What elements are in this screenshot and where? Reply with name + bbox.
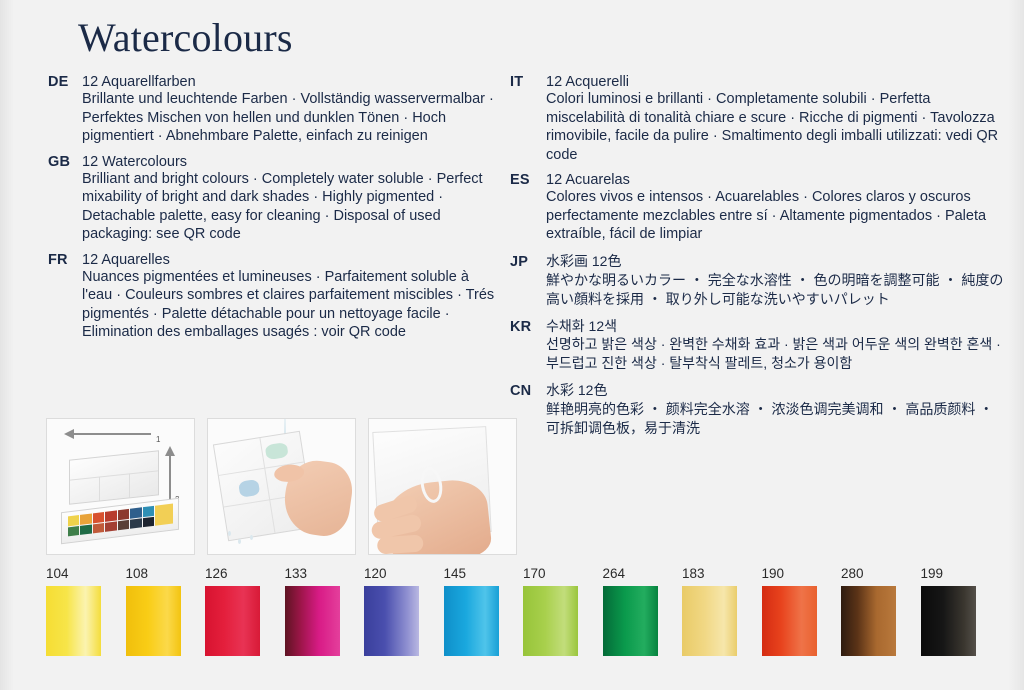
paint-pan	[68, 525, 79, 536]
swatch-cell: 183	[682, 566, 762, 656]
language-heading-gb: 12 Watercolours	[82, 154, 187, 170]
swatch-colour-chip	[444, 586, 499, 656]
paint-residue-green	[265, 442, 289, 460]
paint-pan	[80, 513, 91, 524]
language-body-it: Colori luminosi e brillanti · Completame…	[546, 90, 1010, 164]
paint-pan	[68, 515, 79, 526]
paint-pan	[118, 519, 129, 530]
swatch-number: 170	[523, 566, 603, 581]
language-heading-de: 12 Aquarellfarben	[82, 74, 196, 90]
arrow-step-1-icon	[73, 433, 151, 435]
language-block-de: DE 12 Aquarellfarben Brillante und leuch…	[48, 74, 500, 146]
language-heading-kr: 수채화 12색	[546, 317, 617, 336]
language-heading-it: 12 Acquerelli	[546, 74, 629, 90]
swatch-colour-chip	[762, 586, 817, 656]
swatch-number: 120	[364, 566, 444, 581]
paint-pan	[80, 524, 91, 535]
swatch-number: 190	[762, 566, 842, 581]
language-block-es: ES 12 Acuarelas Colores vivos e intensos…	[510, 172, 1010, 244]
language-block-kr: KR 수채화 12색 선명하고 밝은 색상 · 완벽한 수채화 효과 · 밝은 …	[510, 317, 1010, 374]
swatch-colour-chip	[523, 586, 578, 656]
swatch-cell: 126	[205, 566, 285, 656]
swatch-cell: 104	[46, 566, 126, 656]
paint-pan	[130, 518, 141, 529]
language-code-kr: KR	[510, 319, 546, 335]
language-code-es: ES	[510, 172, 546, 188]
colour-swatch-strip: 104108126133120145170264183190280199	[46, 566, 1000, 656]
language-body-de: Brillante und leuchtende Farben · Vollst…	[82, 90, 500, 146]
palette-removal-diagram: 1 2	[46, 418, 195, 555]
language-body-jp: 鮮やかな明るいカラー ・ 完全な水溶性 ・ 色の明暗を調整可能 ・ 純度の高い顔…	[546, 271, 1010, 309]
detachable-palette-lid	[69, 450, 159, 504]
swatch-number: 133	[285, 566, 365, 581]
swatch-cell: 280	[841, 566, 921, 656]
language-body-kr: 선명하고 밝은 색상 · 완벽한 수채화 효과 · 밝은 색과 어두운 색의 완…	[546, 335, 1010, 373]
language-block-gb: GB 12 Watercolours Brilliant and bright …	[48, 154, 500, 244]
swatch-cell: 190	[762, 566, 842, 656]
swatch-colour-chip	[841, 586, 896, 656]
step-label-1: 1	[156, 435, 160, 444]
swatch-colour-chip	[921, 586, 976, 656]
language-code-gb: GB	[48, 154, 82, 170]
swatch-cell: 170	[523, 566, 603, 656]
swatch-cell: 108	[126, 566, 206, 656]
swatch-number: 108	[126, 566, 206, 581]
language-body-cn: 鲜艳明亮的色彩 ・ 颜料完全水溶 ・ 浓淡色调完美调和 ・ 高品质颜料 ・ 可拆…	[546, 400, 1010, 438]
language-heading-es: 12 Acuarelas	[546, 172, 630, 188]
swatch-cell: 264	[603, 566, 683, 656]
language-body-es: Colores vivos e intensos · Acuarelables …	[546, 188, 1010, 244]
page-title: Watercolours	[78, 18, 293, 58]
paint-box-base	[61, 498, 179, 544]
paint-residue-blue	[238, 479, 260, 498]
paint-pan	[105, 510, 116, 521]
swatch-number: 264	[603, 566, 683, 581]
language-body-gb: Brilliant and bright colours · Completel…	[82, 170, 500, 244]
swatch-number: 104	[46, 566, 126, 581]
product-label-panel: Watercolours DE 12 Aquarellfarben Brilla…	[0, 0, 1024, 690]
large-pan	[155, 503, 173, 525]
language-block-jp: JP 水彩画 12色 鮮やかな明るいカラー ・ 完全な水溶性 ・ 色の明暗を調整…	[510, 252, 1010, 309]
swatch-colour-chip	[126, 586, 181, 656]
palette-rinsing-photo	[207, 418, 356, 555]
paint-pan	[93, 512, 104, 523]
language-code-it: IT	[510, 74, 546, 90]
swatch-colour-chip	[46, 586, 101, 656]
arrow-step-2-icon	[169, 455, 171, 503]
product-photo-strip: 1 2	[46, 418, 517, 555]
paint-pan	[118, 509, 129, 520]
language-code-jp: JP	[510, 254, 546, 270]
paint-pan	[143, 506, 154, 517]
language-heading-jp: 水彩画 12色	[546, 252, 621, 271]
swatch-colour-chip	[285, 586, 340, 656]
swatch-number: 183	[682, 566, 762, 581]
swatch-cell: 145	[444, 566, 524, 656]
swatch-colour-chip	[682, 586, 737, 656]
swatch-cell: 120	[364, 566, 444, 656]
paint-pan	[93, 522, 104, 533]
swatch-colour-chip	[364, 586, 419, 656]
swatch-cell: 133	[285, 566, 365, 656]
language-heading-cn: 水彩 12色	[546, 381, 607, 400]
language-block-cn: CN 水彩 12色 鲜艳明亮的色彩 ・ 颜料完全水溶 ・ 浓淡色调完美调和 ・ …	[510, 381, 1010, 438]
language-code-cn: CN	[510, 383, 546, 399]
language-column-right: IT 12 Acquerelli Colori luminosi e brill…	[510, 74, 1010, 446]
swatch-number: 145	[444, 566, 524, 581]
language-column-left: DE 12 Aquarellfarben Brillante und leuch…	[48, 74, 500, 350]
paint-pans-grid	[68, 506, 154, 537]
language-body-fr: Nuances pigmentées et lumineuses · Parfa…	[82, 268, 500, 342]
language-code-de: DE	[48, 74, 82, 90]
palette-finger-hold-photo	[368, 418, 517, 555]
language-heading-fr: 12 Aquarelles	[82, 252, 170, 268]
paint-pan	[105, 521, 116, 532]
paint-pan	[143, 516, 154, 527]
swatch-colour-chip	[205, 586, 260, 656]
swatch-number: 280	[841, 566, 921, 581]
language-block-it: IT 12 Acquerelli Colori luminosi e brill…	[510, 74, 1010, 164]
swatch-colour-chip	[603, 586, 658, 656]
paint-pan	[130, 507, 141, 518]
swatch-cell: 199	[921, 566, 1001, 656]
language-code-fr: FR	[48, 252, 82, 268]
language-block-fr: FR 12 Aquarelles Nuances pigmentées et l…	[48, 252, 500, 342]
swatch-number: 126	[205, 566, 285, 581]
swatch-number: 199	[921, 566, 1001, 581]
